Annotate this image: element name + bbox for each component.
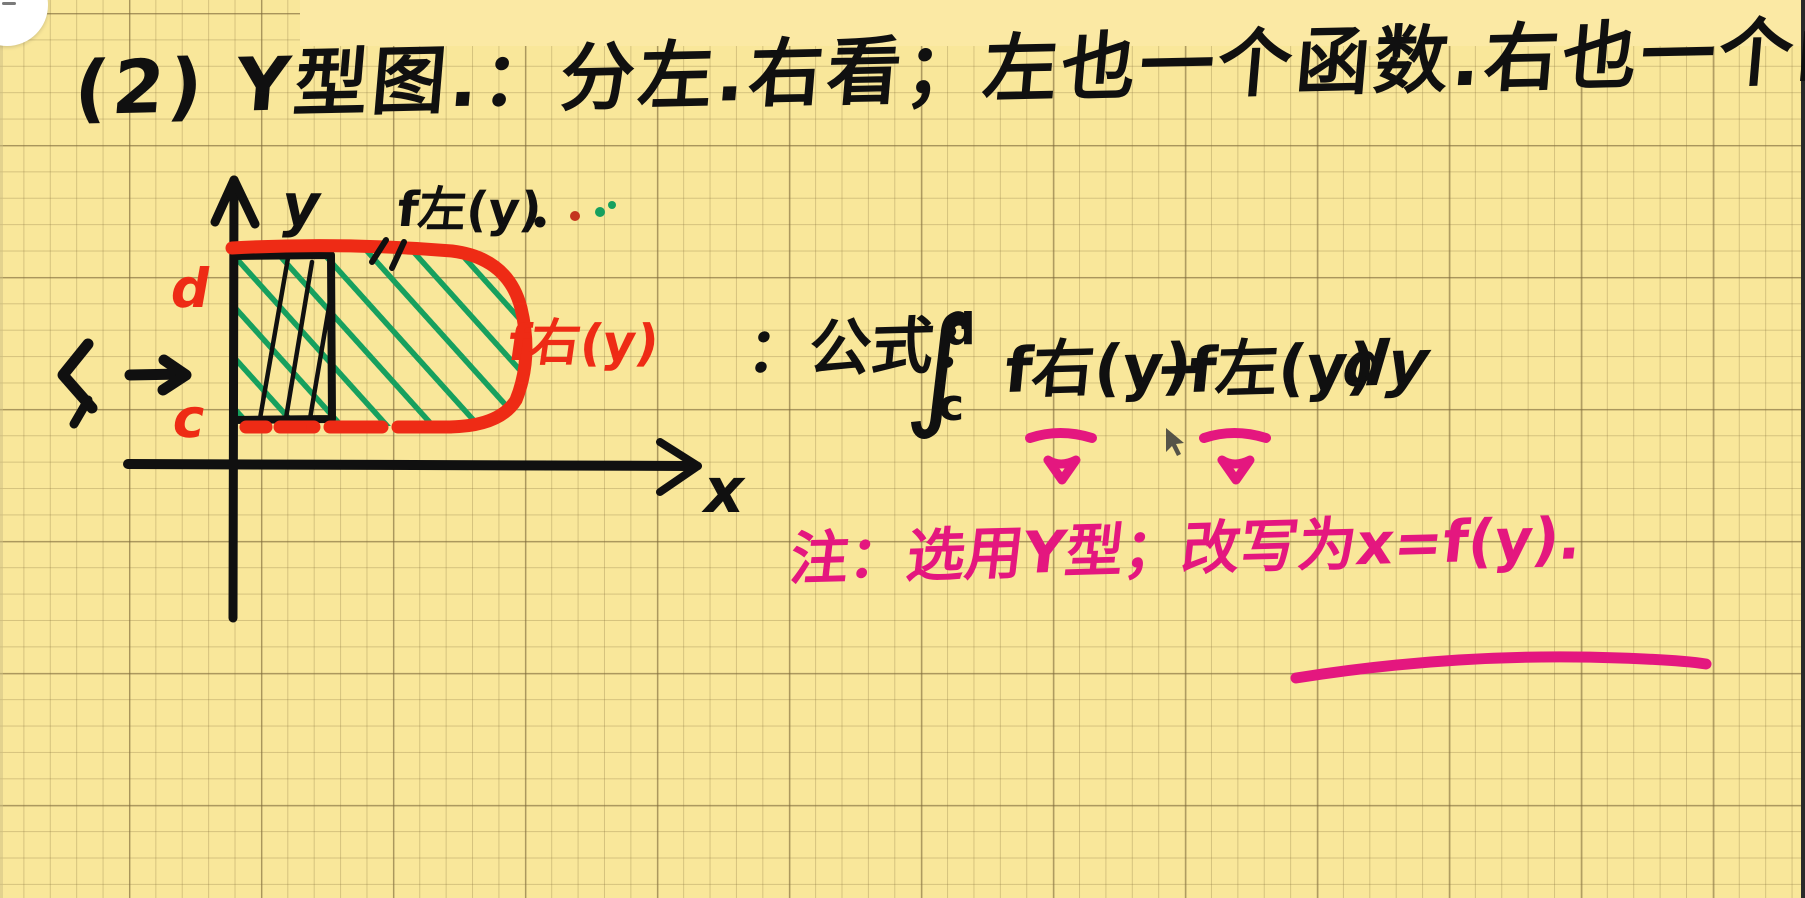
integral-lower-limit: c <box>938 384 964 428</box>
paper-right-edge <box>1801 0 1805 898</box>
right-curve-label: f右(y) <box>505 318 662 368</box>
differential-dy: dy <box>1340 332 1431 396</box>
integral-upper-limit: d <box>944 308 976 352</box>
paper-left-edge <box>0 0 3 898</box>
x-axis-label: x <box>704 460 744 522</box>
whiteboard-canvas: (2) Y型图.：分左.右看；左也一个函数.右也一个函数 <box>0 0 1805 898</box>
left-curve-label: f左(y) <box>395 186 544 234</box>
grid-paper-background <box>0 0 1805 898</box>
y-axis-label: y <box>282 176 320 234</box>
minimize-icon <box>2 2 16 5</box>
